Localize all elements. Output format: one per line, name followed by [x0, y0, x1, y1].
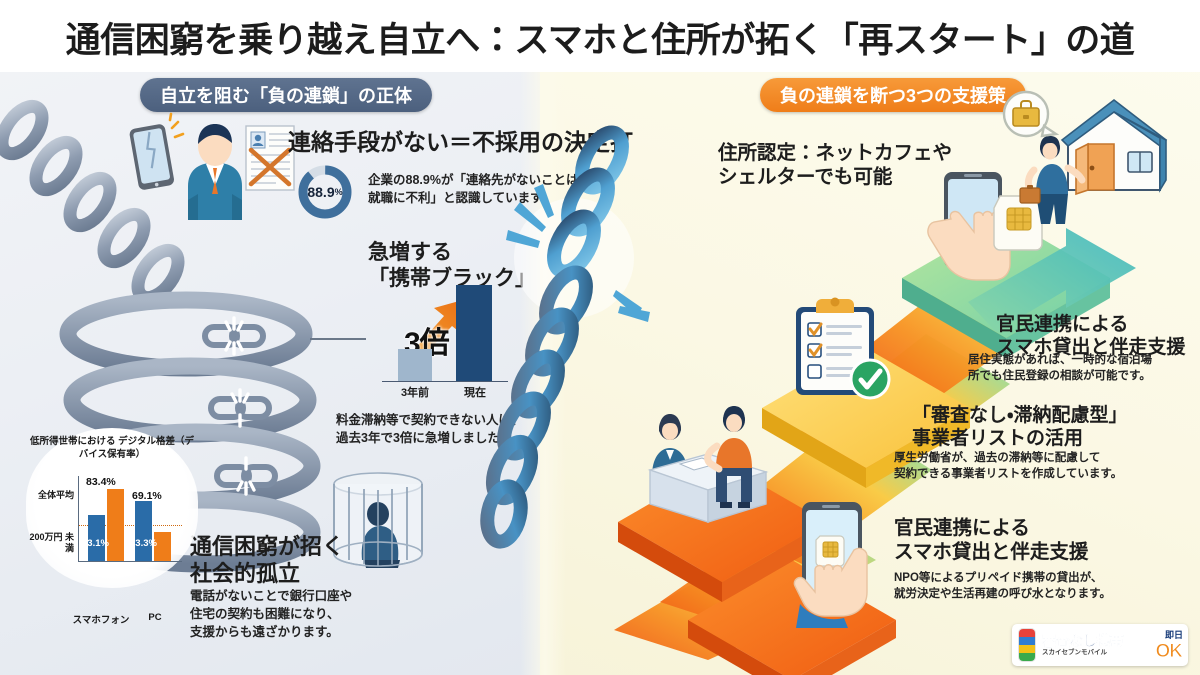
digital-divide-plot: 83.4% 69.1% 53.1% 33.3% スマホフォン PC [78, 476, 182, 562]
digital-divide-chart: 低所得世帯における デジタル格差（デバイス保有率） 全体平均 200万円 未満 … [26, 428, 198, 588]
checklist-clipboard-icon [790, 295, 900, 403]
logo-ok-text: OK [1156, 641, 1183, 663]
digital-divide-chart-title: 低所得世帯における デジタル格差（デバイス保有率） [26, 436, 198, 462]
x-label-smartphone: スマホフォン [70, 612, 132, 626]
page-title: 通信困窮を乗り越え自立へ：スマホと住所が拓く「再スタート」の道 [0, 12, 1200, 63]
value-label-pc-overall: 69.1% [132, 490, 162, 502]
left-section-badge: 自立を阻む「負の連鎖」の正体 [140, 78, 432, 112]
logo-line2: スカイセブンモバイル [1042, 650, 1123, 657]
bar-label-3years-ago: 3年前 [384, 384, 446, 400]
brand-logo-badge[interactable]: 審査なし携帯 スカイセブンモバイル 即日 OK [1012, 624, 1188, 666]
leader-line [310, 338, 366, 340]
employer-recognition-donut-chart: 88.9% [296, 163, 354, 221]
logo-line1: 審査なし携帯 [1042, 634, 1123, 648]
digital-divide-legend-lowincome: 200万円 未満 [28, 532, 74, 555]
y-axis [78, 476, 79, 562]
logo-badge-sokujitsu: 即日 [1165, 628, 1183, 641]
four-color-sim-mark-icon [1018, 628, 1036, 662]
briefcase-job-icon [1004, 92, 1056, 136]
person-entering-house-icon [1000, 92, 1190, 232]
infographic-canvas: 通信困窮を乗り越え自立へ：スマホと住所が拓く「再スタート」の道 自立を阻む「負の… [0, 0, 1200, 675]
left-block3-caption: 電話がないことで銀行口座や 住宅の契約も困難になり、 支援からも遠ざかります。 [190, 588, 352, 641]
donut-center-value: 88.9% [296, 163, 354, 221]
x-label-pc: PC [134, 612, 176, 623]
right-block2-caption: 厚生労働省が、過去の滞納等に配慮して 契約できる事業者リストを作成しています。 [894, 450, 1122, 483]
value-label-smartphone-overall: 53.1% [82, 538, 109, 549]
bar-3years-ago [398, 349, 432, 381]
right-block3-headline: 官民連携による スマホ貸出と伴走支援 [894, 517, 1088, 565]
hand-holding-prepaid-phone-icon [788, 500, 908, 628]
right-block2-headline: 「審査なし・滞納配慮型」 事業者リストの活用 [912, 404, 1127, 450]
logo-text-block: 審査なし携帯 スカイセブンモバイル [1042, 634, 1123, 657]
value-label-smartphone-lowincome: 83.4% [86, 476, 116, 488]
person-with-broken-phone-icon [128, 118, 296, 226]
x-axis [78, 561, 182, 562]
counter-consultation-icon [640, 400, 790, 530]
bar-pc-overall [135, 501, 152, 561]
value-label-pc-lowincome: 33.3% [130, 538, 157, 549]
right-block0-headline: 住所認定：ネットカフェや シェルターでも可能 [718, 142, 952, 190]
digital-divide-legend-overall: 全体平均 [28, 490, 74, 501]
left-block3-headline: 通信困窮が招く 社会的孤立 [190, 534, 344, 588]
right-block3-caption: NPO等によるプリペイド携帯の貸出が、 就労決定や生活再建の呼び水となります。 [894, 570, 1111, 603]
bar-smartphone-lowincome [107, 489, 124, 561]
right-block1-caption: 居住実態があれば、一時的な宿泊場 所でも住民登録の相談が可能です。 [968, 352, 1152, 385]
right-section-badge: 負の連鎖を断つ3つの支援策 [760, 78, 1026, 112]
